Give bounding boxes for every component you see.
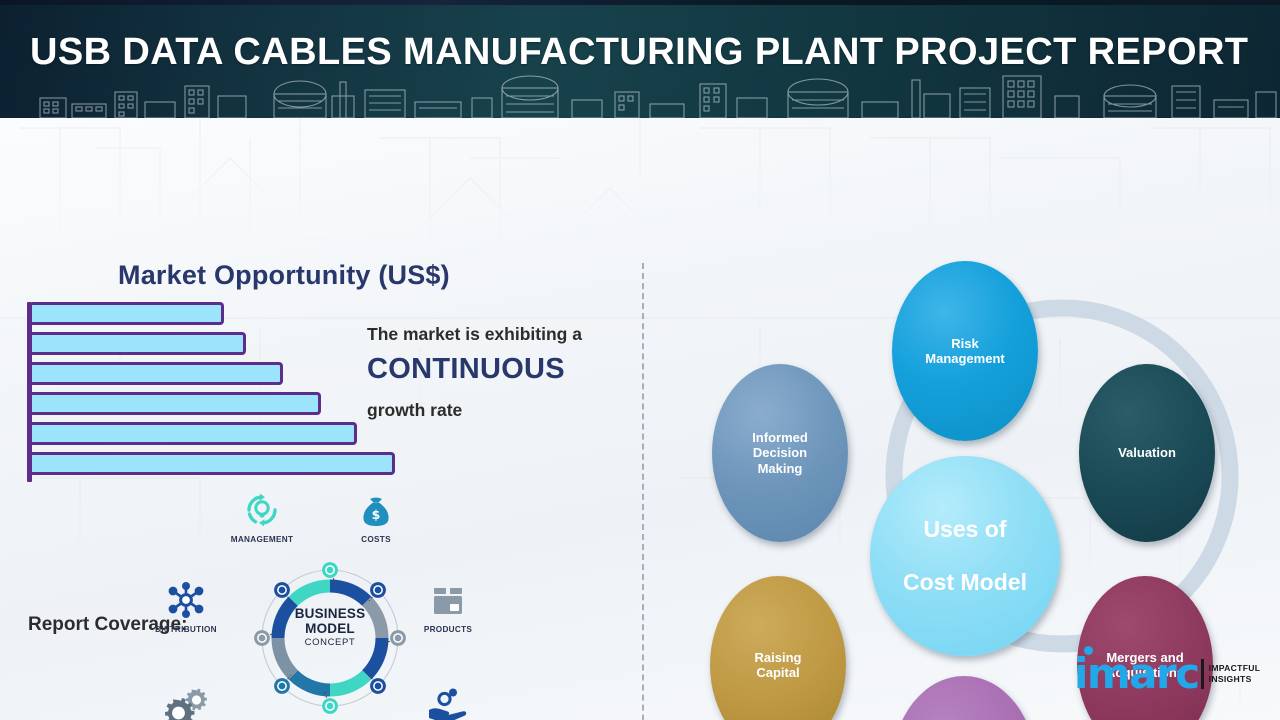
business-model-infographic: MANAGEMENT $ COSTS (140, 488, 500, 720)
page-title: USB DATA CABLES MANUFACTURING PLANT PROJ… (30, 31, 1248, 74)
growth-statement-emphasis: CONTINUOUS (367, 353, 565, 386)
imarc-logo[interactable]: imarc IMPACTFUL INSIGHTS (1074, 650, 1274, 698)
business-model-line1: BUSINESS (250, 606, 410, 621)
bubble-valuation[interactable]: Valuation (1079, 364, 1215, 542)
market-opportunity-title: Market Opportunity (US$) (118, 260, 450, 291)
growth-statement-line1: The market is exhibiting a (367, 324, 582, 345)
lightbulb-recycle-icon (216, 488, 308, 530)
growth-statement-line2: growth rate (367, 400, 462, 421)
imarc-tagline: IMPACTFUL INSIGHTS (1209, 663, 1261, 686)
right-panel: InformedDecisionMaking RiskManagement Va… (642, 236, 1280, 720)
bubble-informed-label: InformedDecisionMaking (746, 430, 814, 475)
left-panel: Market Opportunity (US$) The market is e… (0, 236, 642, 720)
gears-icon (140, 684, 232, 720)
money-bag-icon: $ (330, 488, 422, 530)
coverage-item-services: SERVICES (140, 684, 232, 720)
bar-3 (32, 392, 321, 415)
bubble-raising-capital[interactable]: RaisingCapital (710, 576, 846, 720)
coverage-label-distribution: DISTRIBUTION (140, 625, 232, 634)
bubble-center-label: Uses of Cost Model (891, 516, 1039, 596)
hand-coins-icon (402, 684, 494, 720)
business-model-line3: CONCEPT (250, 637, 410, 648)
tagline-line1: IMPACTFUL (1209, 663, 1261, 674)
logo-divider-bar (1201, 659, 1204, 689)
bubble-raising-label: RaisingCapital (749, 650, 808, 680)
header-top-strip (0, 0, 1280, 5)
bubble-informed-decision-making[interactable]: InformedDecisionMaking (712, 364, 848, 542)
coverage-item-revenue: REVENUE (402, 684, 494, 720)
coverage-item-distribution: DISTRIBUTION (140, 578, 232, 634)
coverage-label-products: PRODUCTS (402, 625, 494, 634)
bubble-uses-of-cost-model: Uses of Cost Model (870, 456, 1060, 656)
bar-4 (32, 422, 357, 445)
coverage-item-products: PRODUCTS (402, 578, 494, 634)
slide-body: Market Opportunity (US$) The market is e… (0, 118, 1280, 720)
coverage-item-costs: $ COSTS (330, 488, 422, 544)
bar-0 (32, 302, 224, 325)
center-line2: Cost Model (897, 569, 1033, 596)
tagline-line2: INSIGHTS (1209, 674, 1261, 685)
imarc-wordmark: imarc (1074, 653, 1199, 695)
bar-2 (32, 362, 283, 385)
bubble-risk-management[interactable]: RiskManagement (892, 261, 1038, 441)
center-line1: Uses of (897, 516, 1033, 543)
svg-text:$: $ (372, 507, 381, 522)
business-model-center-text: BUSINESS MODEL CONCEPT (250, 606, 410, 648)
package-box-icon (402, 578, 494, 620)
business-model-line2: MODEL (250, 621, 410, 636)
coverage-item-management: MANAGEMENT (216, 488, 308, 544)
bubble-risk-label: RiskManagement (919, 336, 1010, 366)
page-header: USB DATA CABLES MANUFACTURING PLANT PROJ… (0, 0, 1280, 118)
market-opportunity-bar-chart (24, 302, 424, 482)
imarc-dot (1084, 646, 1093, 655)
bar-5 (32, 452, 395, 475)
bubble-valuation-label: Valuation (1112, 445, 1182, 460)
bar-1 (32, 332, 246, 355)
city-skyline-icon (0, 72, 1280, 118)
coverage-label-management: MANAGEMENT (216, 535, 308, 544)
network-nodes-icon (140, 578, 232, 620)
coverage-label-costs: COSTS (330, 535, 422, 544)
